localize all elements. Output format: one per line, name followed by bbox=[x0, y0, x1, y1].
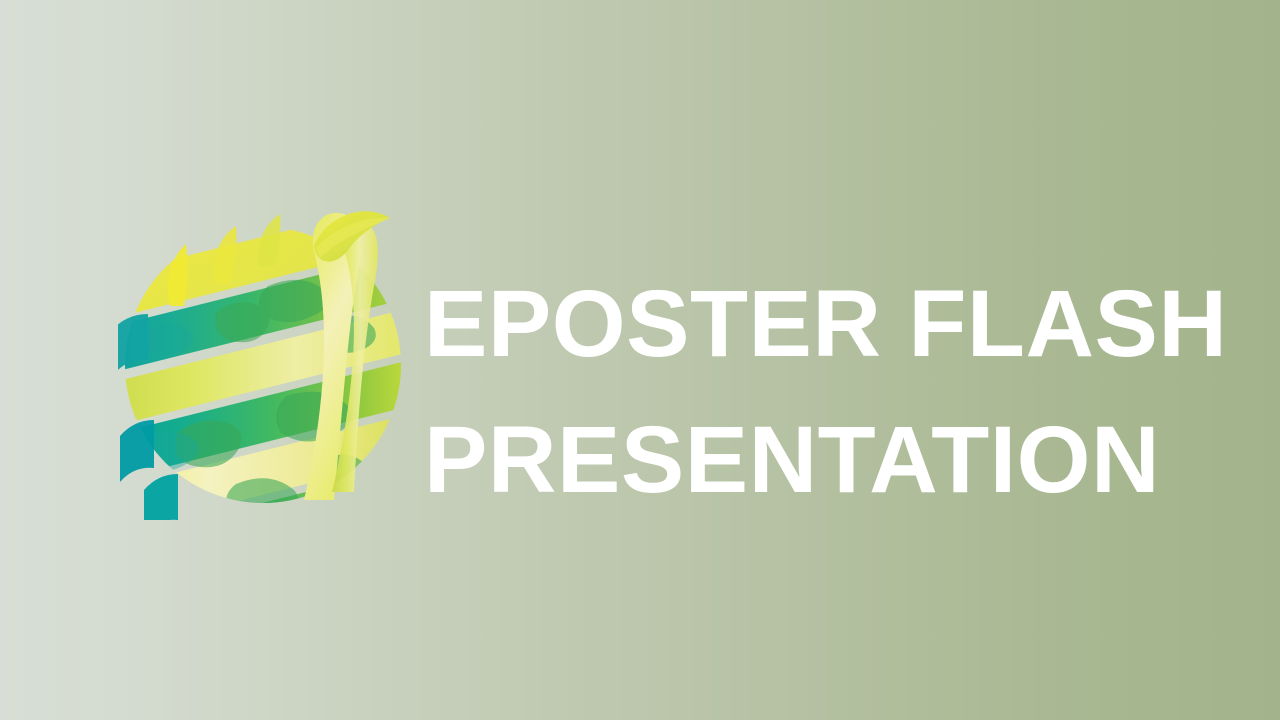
page-title-line-2: PRESENTATION bbox=[424, 392, 1224, 528]
globe-ribbon-bands bbox=[118, 200, 408, 520]
page-title-line-1: EPOSTER FLASH bbox=[424, 256, 1224, 392]
title-slide: EPOSTER FLASH PRESENTATION bbox=[0, 0, 1280, 720]
title-block: EPOSTER FLASH PRESENTATION bbox=[424, 256, 1224, 528]
ribbon-tip-yellow bbox=[168, 244, 188, 306]
ribbon-globe-logo bbox=[118, 200, 408, 520]
